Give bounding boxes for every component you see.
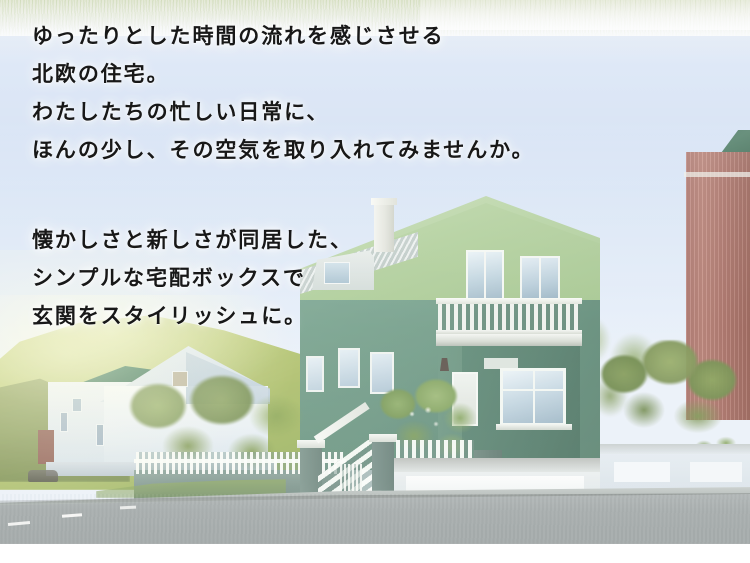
white-house-window — [72, 398, 82, 412]
headline-line: 玄関をスタイリッシュに。 — [32, 298, 353, 336]
window-mullion — [539, 258, 541, 300]
headline-block-primary: ゆったりとした時間の流れを感じさせる 北欧の住宅。 わたしたちの忙しい日常に、 … — [32, 18, 535, 170]
green-house-upper-window — [466, 250, 504, 302]
green-house-bay-window — [500, 368, 566, 426]
road-texture — [0, 494, 750, 545]
wall-recessed-panel — [690, 462, 742, 482]
shrub-blossoms — [404, 404, 444, 434]
wall-recessed-panel — [614, 462, 670, 482]
window-mullion — [484, 252, 486, 300]
headline-line: わたしたちの忙しい日常に、 — [32, 94, 535, 132]
wall-right-cap — [600, 444, 750, 454]
headline-line: 懐かしさと新しさが同居した、 — [32, 222, 353, 260]
bay-window-sill — [496, 424, 572, 430]
red-building-eave — [684, 172, 750, 177]
window-mullion — [533, 371, 535, 423]
parked-car — [28, 470, 58, 482]
headline-line: 北欧の住宅。 — [32, 56, 535, 94]
chimney-cap — [371, 198, 397, 205]
balcony-slab — [436, 334, 582, 346]
trees-right — [600, 340, 750, 450]
wall-weathering — [394, 458, 608, 472]
headline-block-secondary: 懐かしさと新しさが同居した、 シンプルな宅配ボックスで 玄関をスタイリッシュに。 — [32, 222, 353, 336]
white-house-window — [60, 412, 68, 432]
window-transom — [503, 389, 563, 391]
green-house-window — [306, 356, 324, 392]
hero-banner: ゆったりとした時間の流れを感じさせる 北欧の住宅。 わたしたちの忙しい日常に、 … — [0, 0, 750, 563]
bottom-white-area — [0, 544, 750, 563]
white-house-window — [96, 424, 104, 446]
chimney — [374, 200, 394, 252]
balcony-top-rail — [436, 298, 582, 304]
headline-line: ゆったりとした時間の流れを感じさせる — [32, 18, 535, 56]
headline-line: ほんの少し、その空気を取り入れてみませんか。 — [32, 132, 535, 170]
green-house-upper-window — [520, 256, 560, 302]
green-house-window — [338, 348, 360, 388]
fence-pier-cap — [369, 434, 397, 442]
headline-line: シンプルな宅配ボックスで — [32, 260, 353, 298]
white-house-door — [38, 430, 54, 464]
